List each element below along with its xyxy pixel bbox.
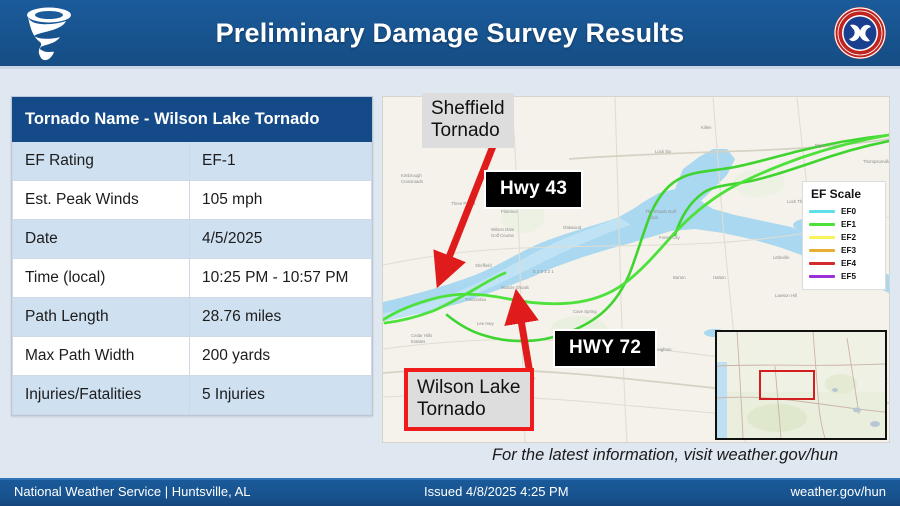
wilson-lake-tornado-callout: Wilson Lake Tornado	[404, 368, 534, 431]
map-place-label: Elgin	[815, 143, 825, 148]
sheffield-tornado-callout: Sheffield Tornado	[422, 93, 514, 148]
map-place-label: Wilson Dam	[491, 227, 514, 232]
page-footer: National Weather Service | Huntsville, A…	[0, 478, 900, 506]
ef1-label: EF1	[841, 220, 856, 229]
map-place-label: E 2 0 3 2 1	[533, 269, 554, 274]
map-place-label: Cave Spring	[573, 309, 597, 314]
table-row: Time (local) 10:25 PM - 10:57 PM	[13, 259, 372, 298]
row-value: 200 yards	[190, 337, 372, 376]
row-value: EF-1	[190, 142, 372, 181]
hwy-43-label: Hwy 43	[484, 170, 583, 209]
ef3-swatch	[809, 249, 835, 252]
nws-seal-logo	[832, 5, 888, 61]
map-place-label: Littleville	[773, 255, 789, 260]
row-key: Date	[13, 220, 190, 259]
table-row: Injuries/Fatalities 5 Injuries	[13, 376, 372, 415]
tornado-summary-table: Tornado Name - Wilson Lake Tornado EF Ra…	[11, 96, 373, 416]
row-key: Est. Peak Winds	[13, 181, 190, 220]
map-place-label: Lawson Hill	[775, 293, 797, 298]
ef2-label: EF2	[841, 233, 856, 242]
row-key: Injuries/Fatalities	[13, 376, 190, 415]
map-place-label: Estates	[411, 339, 425, 344]
map-place-label: Muscle Shoals	[501, 285, 529, 290]
map-place-label: Thompsonville	[863, 159, 890, 164]
footer-issued: Issued 4/8/2025 4:25 PM	[424, 484, 569, 499]
locator-inset-map[interactable]	[715, 330, 887, 440]
ef-legend-item: EF2	[809, 231, 879, 244]
ef0-swatch	[809, 210, 835, 213]
map-place-label: Crossroads	[401, 179, 423, 184]
map-place-label: Forest City	[659, 235, 680, 240]
table-row: Est. Peak Winds 105 mph	[13, 181, 372, 220]
map-place-label: Sheffield	[475, 263, 492, 268]
map-place-label: Hatton	[713, 275, 726, 280]
ef-legend-item: EF3	[809, 244, 879, 257]
table-header-row: Tornado Name - Wilson Lake Tornado	[13, 98, 372, 142]
ef0-label: EF0	[841, 207, 856, 216]
map-place-label: Lee Hwy	[477, 321, 494, 326]
ef3-label: EF3	[841, 246, 856, 255]
row-value: 4/5/2025	[190, 220, 372, 259]
ef-legend-title: EF Scale	[811, 187, 879, 201]
row-value: 10:25 PM - 10:57 PM	[190, 259, 372, 298]
ef-scale-legend: EF Scale EF0 EF1 EF2 EF3 EF4 EF5	[802, 181, 886, 290]
inset-region-box	[759, 370, 815, 400]
map-place-label: Tuscumbia	[465, 297, 486, 302]
ef1-swatch	[809, 223, 835, 226]
ef5-swatch	[809, 275, 835, 278]
table-row: EF Rating EF-1	[13, 142, 372, 181]
map-place-label: Kimbrough	[401, 173, 422, 178]
ef-legend-item: EF4	[809, 257, 879, 270]
ef2-swatch	[809, 236, 835, 239]
page-header: Preliminary Damage Survey Results	[0, 0, 900, 66]
row-key: Time (local)	[13, 259, 190, 298]
table-row: Max Path Width 200 yards	[13, 337, 372, 376]
hwy-72-label: HWY 72	[553, 329, 657, 368]
map-place-label: Club	[649, 215, 658, 220]
map-place-label: Three Points	[451, 201, 475, 206]
row-value: 28.76 miles	[190, 298, 372, 337]
page-title: Preliminary Damage Survey Results	[216, 18, 685, 49]
map-place-label: Killen	[701, 125, 712, 130]
ef-legend-item: EF0	[809, 205, 879, 218]
tornado-icon	[18, 4, 80, 64]
header-underline	[0, 66, 900, 69]
ef-legend-item: EF1	[809, 218, 879, 231]
footer-office: National Weather Service | Huntsville, A…	[14, 484, 251, 499]
ef-legend-item: EF5	[809, 270, 879, 283]
map-place-label: The Shoals Golf	[645, 209, 676, 214]
map-place-label: Golf Course	[491, 233, 514, 238]
table-title: Tornado Name - Wilson Lake Tornado	[13, 98, 372, 142]
row-value: 105 mph	[190, 181, 372, 220]
map-place-label: Oakwood	[563, 225, 581, 230]
map-place-label: Cedar Hills	[411, 333, 432, 338]
row-key: EF Rating	[13, 142, 190, 181]
ef5-label: EF5	[841, 272, 856, 281]
table-row: Date 4/5/2025	[13, 220, 372, 259]
ef4-label: EF4	[841, 259, 856, 268]
footer-website[interactable]: weather.gov/hun	[791, 484, 886, 499]
map-place-label: Lock Six	[655, 149, 671, 154]
map-footnote: For the latest information, visit weathe…	[440, 446, 890, 465]
map-place-label: Leighton	[655, 347, 672, 352]
table-row: Path Length 28.76 miles	[13, 298, 372, 337]
map-place-label: Barton	[673, 275, 686, 280]
footer-topline	[0, 478, 900, 480]
row-key: Max Path Width	[13, 337, 190, 376]
row-key: Path Length	[13, 298, 190, 337]
map-place-label: Florence	[501, 209, 518, 214]
ef4-swatch	[809, 262, 835, 265]
row-value: 5 Injuries	[190, 376, 372, 415]
